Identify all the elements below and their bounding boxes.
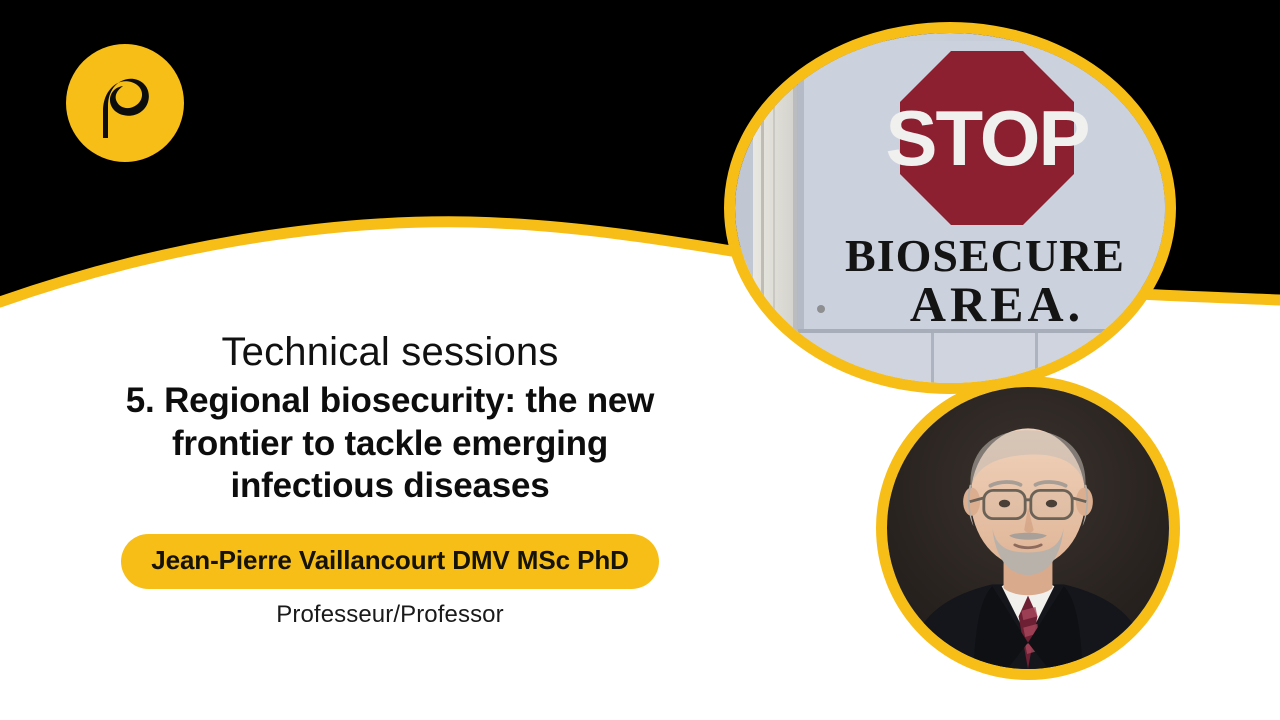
session-kicker: Technical sessions: [40, 330, 740, 374]
speaker-block: Jean-Pierre Vaillancourt DMV MSc PhD Pro…: [40, 508, 740, 629]
biosecure-sign-photo: STOP BIOSECURE AREA.: [724, 22, 1176, 394]
speaker-name-badge: Jean-Pierre Vaillancourt DMV MSc PhD: [121, 534, 659, 589]
slide-text-column: Technical sessions 5. Regional biosecuri…: [40, 330, 740, 629]
brand-logo[interactable]: [66, 44, 184, 162]
svg-text:STOP: STOP: [886, 94, 1089, 182]
session-title-line-3: infectious diseases: [40, 465, 740, 508]
svg-text:BIOSECURE: BIOSECURE: [845, 230, 1125, 281]
leaf-p-logo-icon: [96, 66, 154, 140]
biosecure-sign-illustration: STOP BIOSECURE AREA.: [735, 33, 1165, 383]
session-title-line-1: 5. Regional biosecurity: the new: [40, 380, 740, 423]
svg-text:AREA.: AREA.: [910, 276, 1084, 332]
speaker-role: Professeur/Professor: [40, 601, 740, 629]
session-title-line-2: frontier to tackle emerging: [40, 423, 740, 466]
speaker-portrait-photo: [876, 376, 1180, 680]
session-title: 5. Regional biosecurity: the new frontie…: [40, 380, 740, 508]
speaker-portrait-illustration: [887, 387, 1169, 669]
slide-canvas: STOP BIOSECURE AREA.: [0, 0, 1280, 720]
